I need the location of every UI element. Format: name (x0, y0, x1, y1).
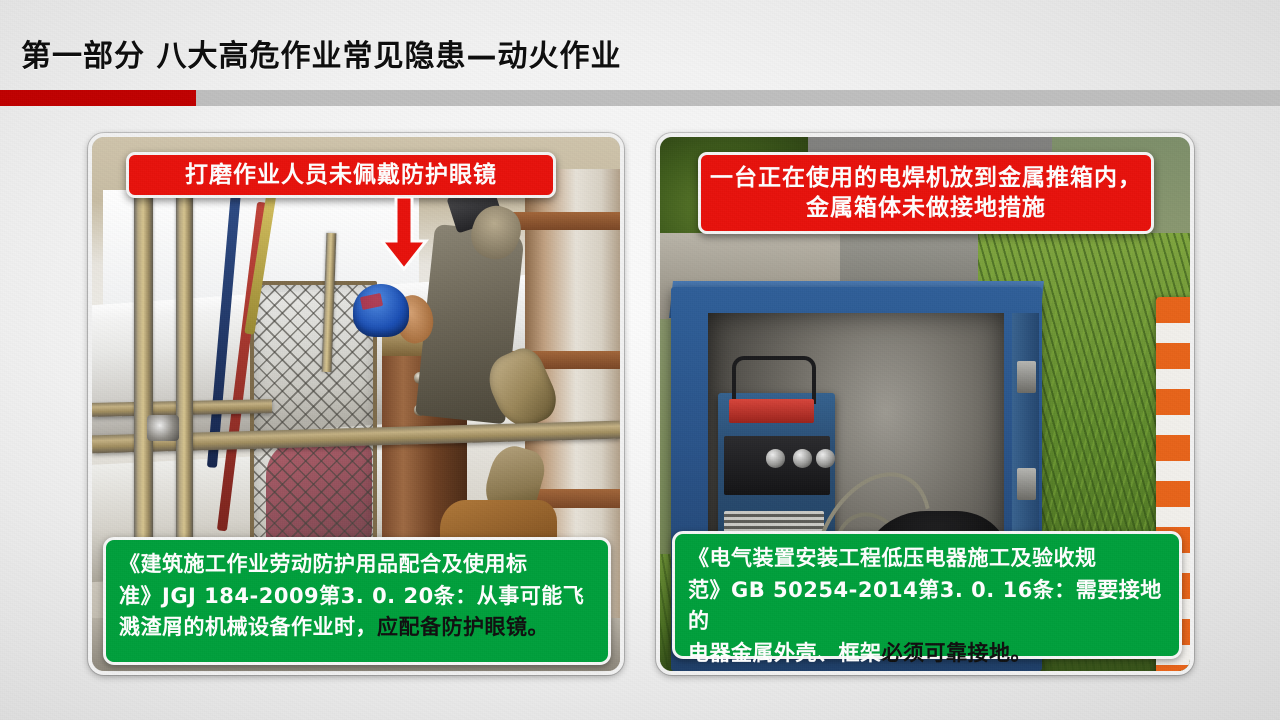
caption-left-line3-white: 溅渣屑的机械设备作业时， (119, 615, 377, 639)
regulation-caption-left: 《建筑施工作业劳动防护用品配合及使用标 准》JGJ 184-2009第3. 0.… (103, 537, 611, 665)
regulation-caption-right: 《电气装置安装工程低压电器施工及验收规 范》GB 50254-2014第3. 0… (672, 531, 1182, 659)
divider-gray-segment (196, 90, 1280, 106)
caption-right-line2: 范》GB 50254-2014第3. 0. 16条：需要接地的 (688, 575, 1166, 638)
hazard-banner-left-line1: 打磨作业人员未佩戴防护眼镜 (185, 160, 497, 190)
slide-root: 第一部分 八大高危作业常见隐患—动火作业 (0, 0, 1280, 720)
hazard-banner-left: 打磨作业人员未佩戴防护眼镜 (126, 152, 556, 198)
down-arrow-icon (374, 197, 434, 271)
caption-right-line1: 《电气装置安装工程低压电器施工及验收规 (688, 543, 1166, 575)
header-divider (0, 90, 1280, 106)
caption-right-line3: 电器金属外壳、框架必须可靠接地。 (688, 638, 1166, 670)
hazard-banner-right-line1: 一台正在使用的电焊机放到金属推箱内， (710, 163, 1142, 193)
caption-left-line3: 溅渣屑的机械设备作业时，应配备防护眼镜。 (119, 612, 595, 644)
page-title: 第一部分 八大高危作业常见隐患—动火作业 (21, 31, 621, 75)
hazard-banner-right: 一台正在使用的电焊机放到金属推箱内， 金属箱体未做接地措施 (698, 152, 1154, 234)
caption-left-line1: 《建筑施工作业劳动防护用品配合及使用标 (119, 549, 595, 581)
hazard-banner-right-line2: 金属箱体未做接地措施 (806, 193, 1046, 223)
caption-right-line3-emphasis: 必须可靠接地。 (882, 641, 1033, 665)
caption-right-line3-white: 电器金属外壳、框架 (688, 641, 882, 665)
caption-left-line3-emphasis: 应配备防护眼镜。 (377, 615, 549, 639)
divider-red-segment (0, 90, 196, 106)
caption-left-line2: 准》JGJ 184-2009第3. 0. 20条：从事可能飞 (119, 581, 595, 613)
